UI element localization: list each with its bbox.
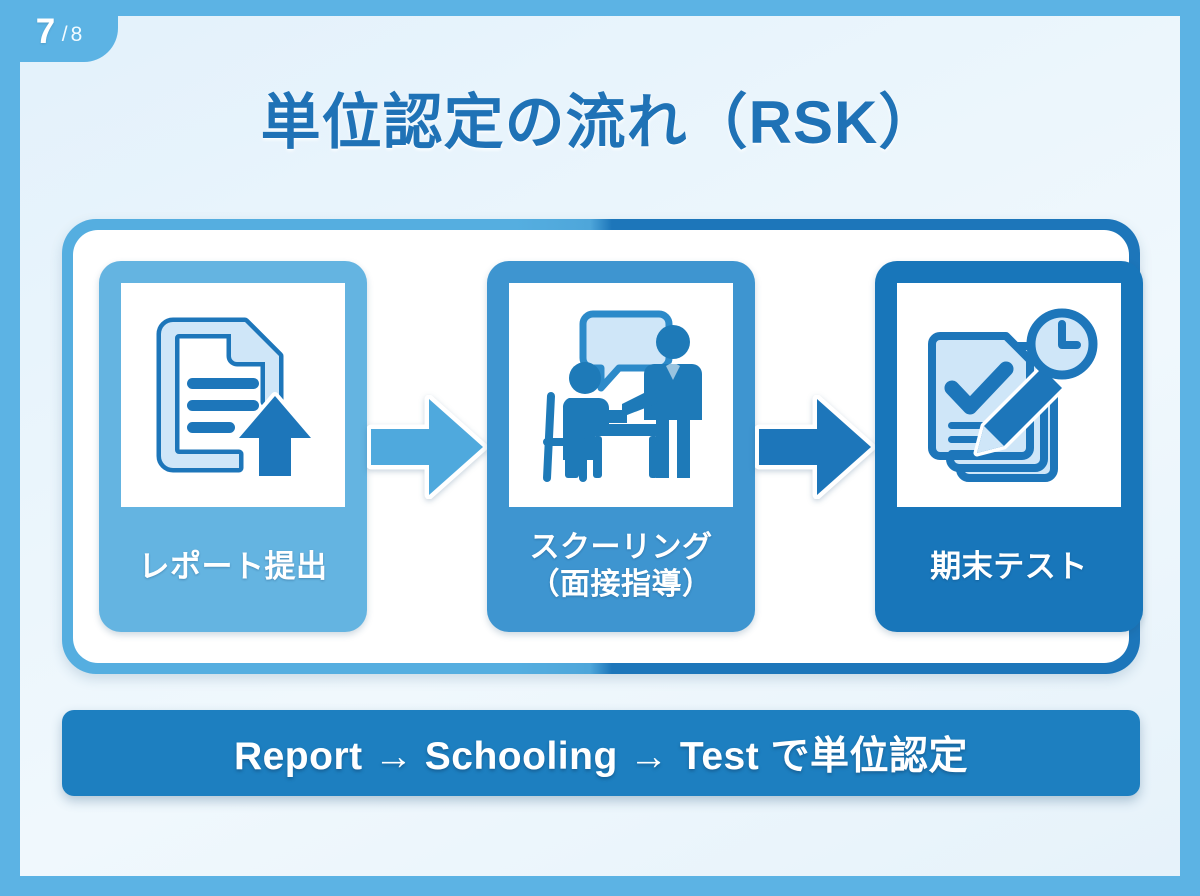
page-indicator-current: 7 xyxy=(36,14,56,49)
icon-panel xyxy=(121,283,345,507)
flow-step-label: レポート提出 xyxy=(129,507,338,632)
summary-banner: Report → Schooling → Test で単位認定 xyxy=(62,710,1140,796)
page-title: 単位認定の流れ（RSK） xyxy=(0,74,1200,161)
flow-arrow-2 xyxy=(755,230,875,663)
summary-banner-text: Report → Schooling → Test で単位認定 xyxy=(234,725,968,781)
flow-arrow-1 xyxy=(367,230,487,663)
right-arrow-icon xyxy=(755,395,875,499)
flow-step-label: スクーリング （面接指導） xyxy=(520,507,723,632)
page-indicator-badge: 7 / 8 xyxy=(0,0,118,62)
flow-step-card-test[interactable]: 期末テスト xyxy=(875,261,1143,632)
page-indicator-separator: / xyxy=(62,23,68,47)
interview-people-icon xyxy=(523,300,719,490)
slide: 7 / 8 単位認定の流れ（RSK） xyxy=(0,0,1200,896)
right-arrow-icon xyxy=(367,395,487,499)
icon-panel xyxy=(897,283,1121,507)
test-papers-clock-icon xyxy=(914,300,1104,490)
flow-step-card-report[interactable]: レポート提出 xyxy=(99,261,367,632)
flow-step-card-schooling[interactable]: スクーリング （面接指導） xyxy=(487,261,755,632)
document-upload-icon xyxy=(138,300,328,490)
icon-panel xyxy=(509,283,733,507)
page-indicator-total: 8 xyxy=(71,23,83,47)
flow-diagram-frame: レポート提出 xyxy=(62,219,1140,674)
flow-diagram-inner: レポート提出 xyxy=(73,230,1129,663)
flow-step-label: 期末テスト xyxy=(920,507,1098,632)
